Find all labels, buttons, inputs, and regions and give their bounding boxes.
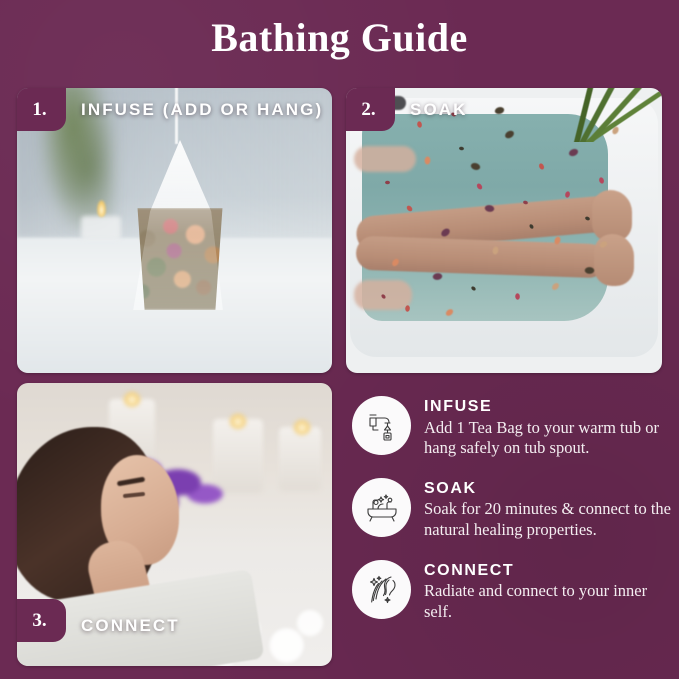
instruction-body: Radiate and connect to your inner self. bbox=[424, 581, 672, 622]
instruction-heading: SOAK bbox=[424, 480, 672, 498]
step-photo-connect: 3. CONNECT bbox=[17, 383, 332, 666]
page-title: Bathing Guide bbox=[0, 16, 679, 60]
step-number-badge-3: 3. bbox=[17, 599, 66, 642]
step-caption-2: SOAK bbox=[410, 100, 468, 120]
step-caption-1: INFUSE (ADD OR HANG) bbox=[81, 100, 323, 120]
faucet-tea-bag-icon bbox=[352, 396, 411, 455]
bathtub-soak-icon bbox=[352, 478, 411, 537]
step-photo-soak: 2. SOAK bbox=[346, 88, 662, 373]
face-sparkle-icon bbox=[352, 560, 411, 619]
instruction-item-infuse: INFUSE Add 1 Tea Bag to your warm tub or… bbox=[352, 396, 672, 459]
instruction-item-soak: SOAK Soak for 20 minutes & connect to th… bbox=[352, 478, 672, 541]
instruction-list: INFUSE Add 1 Tea Bag to your warm tub or… bbox=[352, 396, 672, 642]
step-number-badge-2: 2. bbox=[346, 88, 395, 131]
step-photo-infuse: 1. INFUSE (ADD OR HANG) bbox=[17, 88, 332, 373]
instruction-body: Add 1 Tea Bag to your warm tub or hang s… bbox=[424, 418, 672, 459]
step-number-badge-1: 1. bbox=[17, 88, 66, 131]
photo-infuse-artwork bbox=[17, 88, 332, 373]
instruction-item-connect: CONNECT Radiate and connect to your inne… bbox=[352, 560, 672, 623]
photo-soak-artwork bbox=[346, 88, 662, 373]
bathing-guide-page: Bathing Guide 1. INFUSE (ADD OR HANG) bbox=[0, 0, 679, 679]
step-caption-3: CONNECT bbox=[81, 616, 180, 636]
instruction-heading: INFUSE bbox=[424, 398, 672, 416]
instruction-body: Soak for 20 minutes & connect to the nat… bbox=[424, 499, 672, 540]
instruction-heading: CONNECT bbox=[424, 562, 672, 580]
